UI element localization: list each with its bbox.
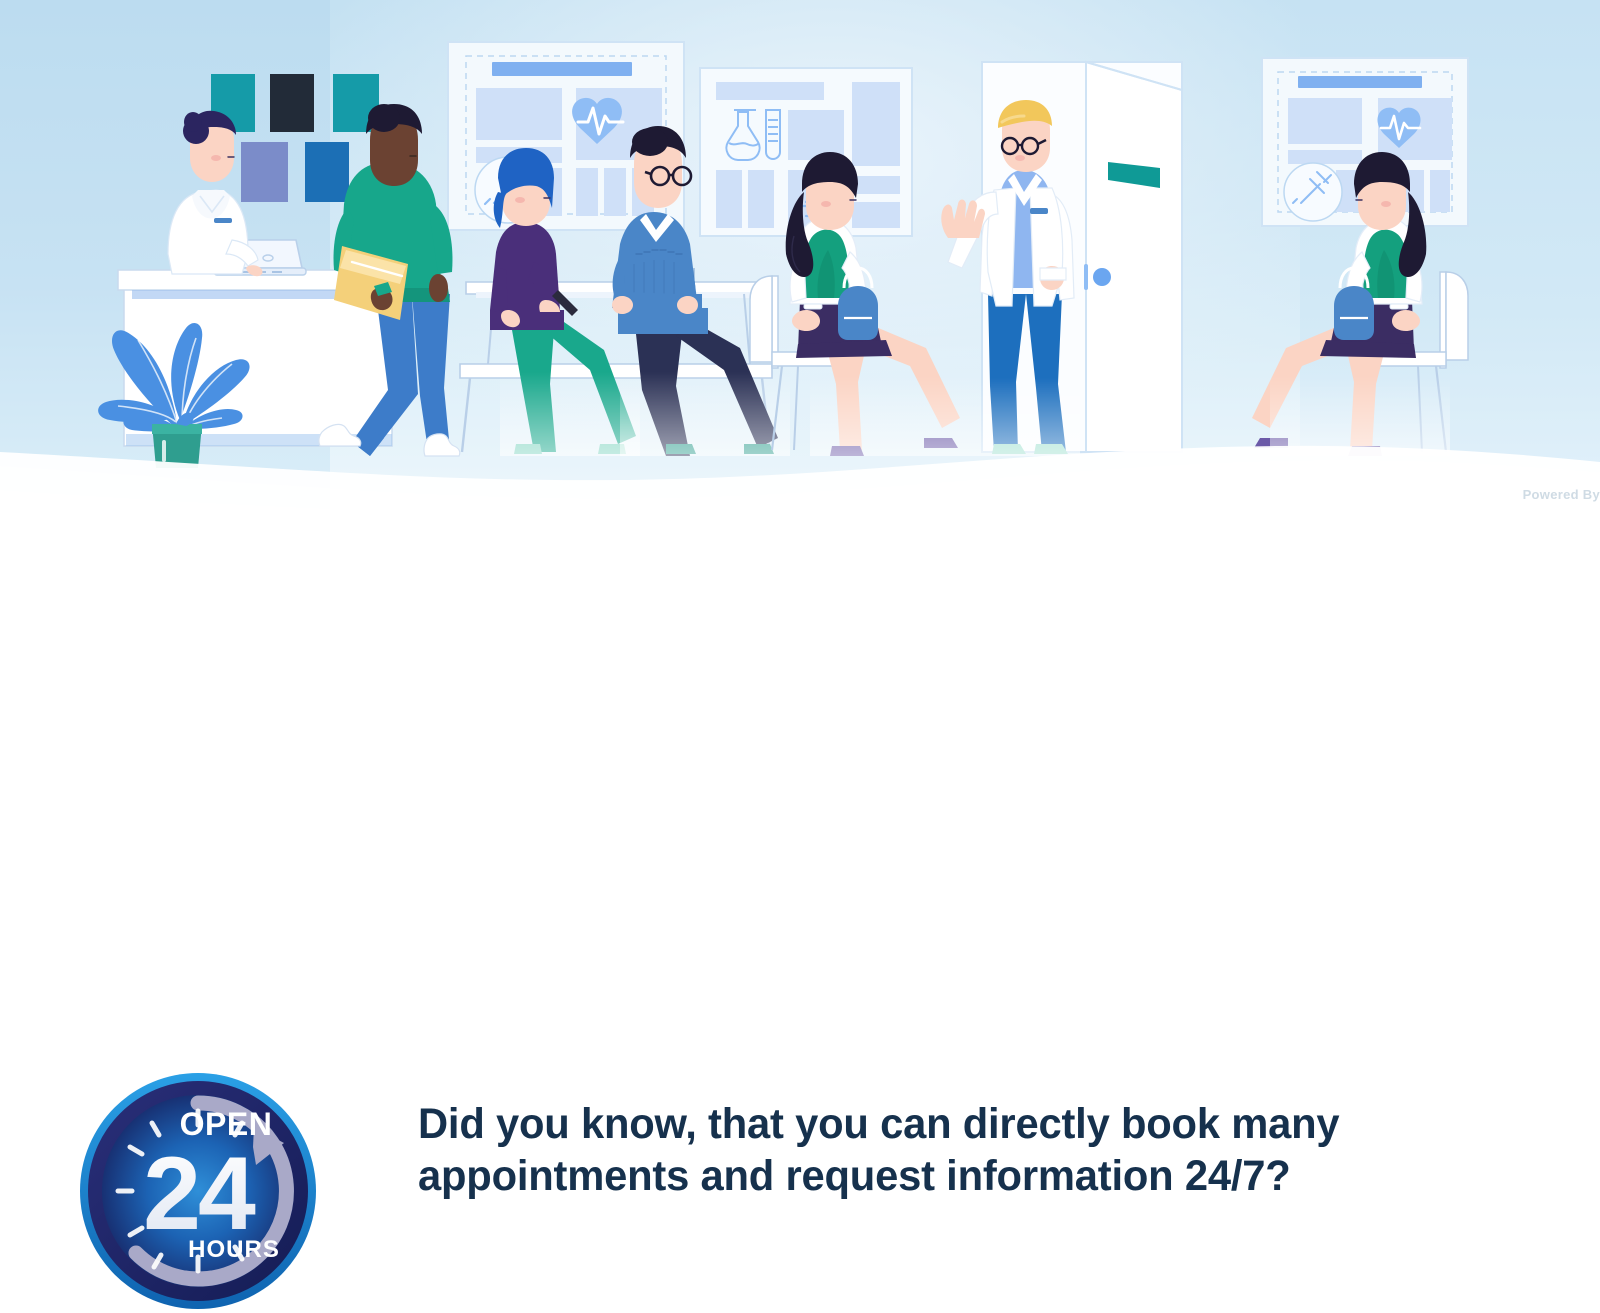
open-24-hours-badge: OPEN 24 HOURS [76,1069,320,1313]
powered-by-watermark: Powered By [1523,487,1600,502]
square-blue [305,142,349,202]
badge-hours-label: HOURS [188,1236,280,1263]
square-dark-center [270,74,314,132]
door-handle [1093,268,1111,286]
clinic-waiting-room-illustration [0,0,1600,520]
poster-lab-center [700,68,912,236]
content-section: OPEN 24 HOURS Did you know, that you can… [0,520,1600,900]
headline-text: Did you know, that you can directly book… [418,1098,1446,1202]
square-periwinkle [241,142,288,202]
promo-banner: Powered By [0,0,1600,900]
syringe-icon [1284,163,1342,221]
badge-number-label: 24 [143,1136,256,1252]
